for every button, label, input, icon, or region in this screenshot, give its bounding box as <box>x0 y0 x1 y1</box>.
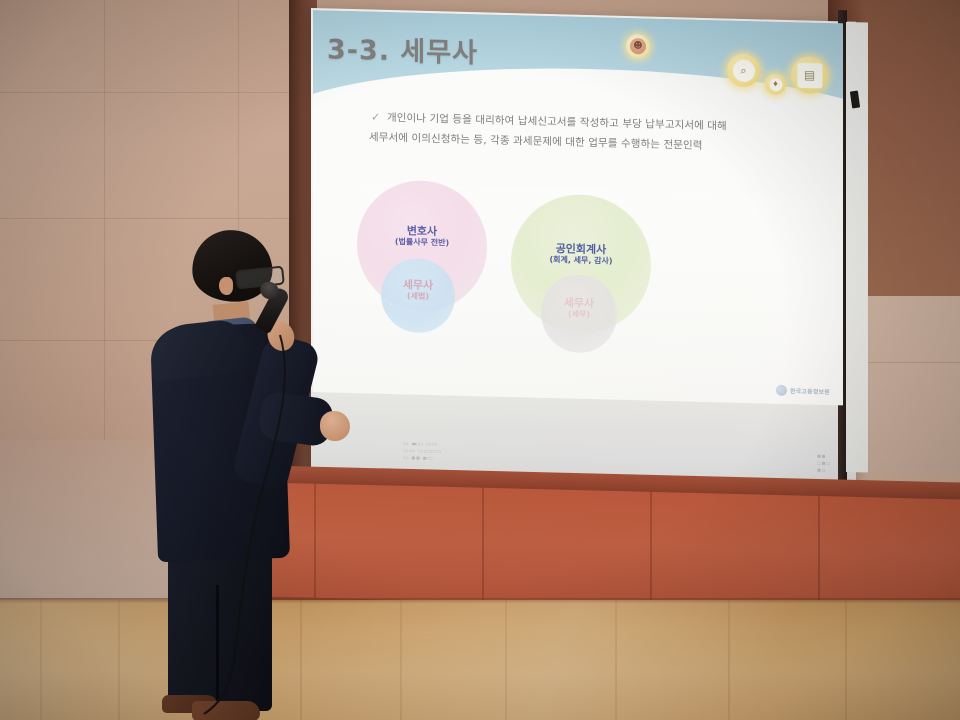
diagram-label-tax-right: 세무사 (세무) <box>541 296 617 321</box>
whiteboard-scribble-right: ▪▪▫▪▫▪▫ <box>817 453 830 474</box>
checkmark-icon: ✓ <box>371 110 380 123</box>
presenter <box>140 225 370 720</box>
person-avatar-icon: ☻ <box>626 34 650 59</box>
magnifier-badge-icon: ⌕ <box>727 53 760 87</box>
diagram-circle-tax-in-cpa: 세무사 (세무) <box>541 274 617 354</box>
slide-title: 3-3. 세무사 <box>327 27 478 70</box>
organization-logo: 한국고용정보원 <box>776 385 830 397</box>
presenter-leg-seam <box>216 585 219 711</box>
presenter-legs <box>168 543 272 711</box>
document-badge-icon: ▤ <box>791 56 828 94</box>
presenter-ear <box>219 277 233 295</box>
presenter-shoulder <box>147 318 248 382</box>
small-person-badge-icon: ♦ <box>765 73 786 95</box>
right-wall-upper-dark <box>866 0 960 300</box>
diagram-label-cpa: 공인회계사 (회계, 세무, 감사) <box>511 241 651 268</box>
diagram-label-tax-left: 세무사 (세법) <box>381 278 455 303</box>
whiteboard-scribble: ▭ ▬▭ ▭▭▭▭ ▭▭▭▭▭ ▪▪ ▪▭ <box>403 440 442 462</box>
lecture-photo-scene: ▭ ▬▭ ▭▭▭▭ ▭▭▭▭▭ ▪▪ ▪▭ ▪▪▫▪▫▪▫ 3-3. 세무사 ☻… <box>0 0 960 720</box>
presenter-pointing-hand <box>320 411 350 441</box>
organization-logo-mark <box>776 385 787 396</box>
presenter-shoe-front <box>192 701 260 720</box>
diagram-label-lawyer: 변호사 (법률사무 전반) <box>357 223 487 249</box>
lawyer-subtitle: (법률사무 전반) <box>357 237 487 250</box>
projected-slide: 3-3. 세무사 ☻ ⌕ ♦ ▤ ✓ 개인이나 기업 등을 대리하여 납세신고서 <box>313 10 843 405</box>
diagram-circle-tax-in-lawyer: 세무사 (세법) <box>381 258 455 334</box>
right-wall-lower-panel <box>866 296 960 476</box>
tax-left-subtitle: (세법) <box>381 291 455 303</box>
organization-logo-text: 한국고용정보원 <box>790 386 830 396</box>
tax-right-subtitle: (세무) <box>541 309 617 321</box>
